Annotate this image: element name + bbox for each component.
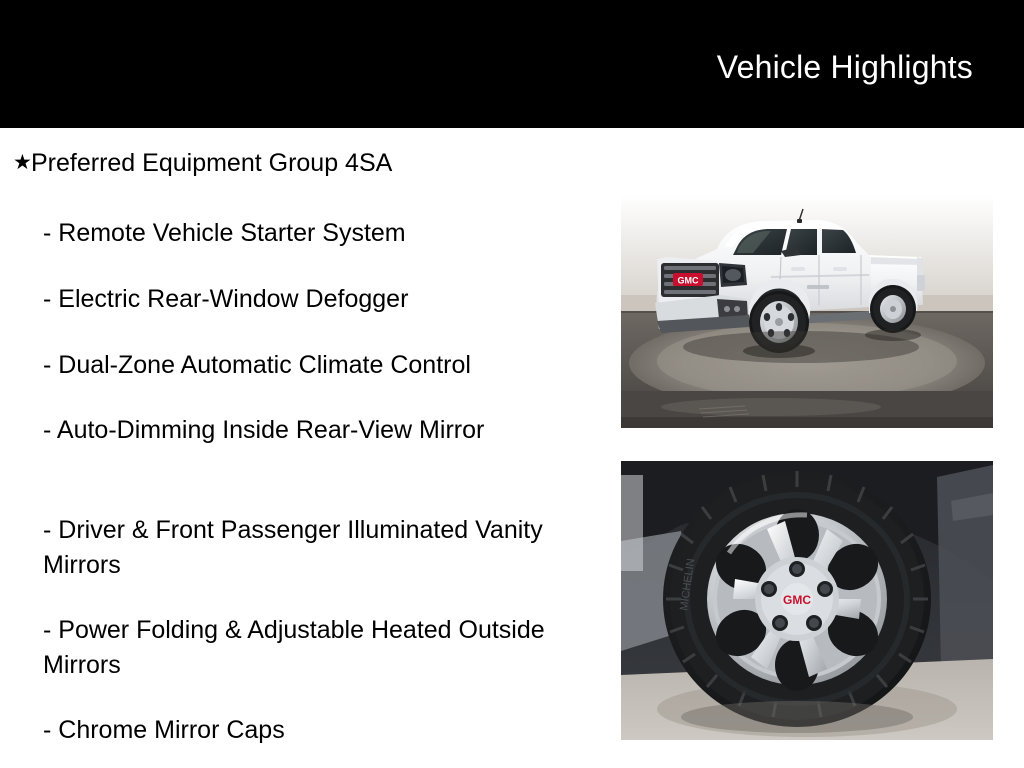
page-title: Vehicle Highlights <box>717 48 973 86</box>
vehicle-wheel-photo: MICHELIN <box>621 461 993 740</box>
list-item-group: ★ Preferred Equipment Group 4SA <box>0 148 586 178</box>
list-item-feature-1: - Remote Vehicle Starter System <box>43 216 588 251</box>
vehicle-highlights-list: ★ Preferred Equipment Group 4SA - Remote… <box>0 128 600 768</box>
list-item-feature-7: - Chrome Mirror Caps <box>43 713 588 748</box>
svg-text:GMC: GMC <box>783 593 811 607</box>
list-item-feature-5: - Driver & Front Passenger Illuminated V… <box>43 513 573 583</box>
header-band: Vehicle Highlights <box>0 0 1024 128</box>
vehicle-exterior-photo: GMC <box>621 195 993 428</box>
star-icon: ★ <box>0 148 31 178</box>
vehicle-highlights-slide: Vehicle Highlights ★ Preferred Equipment… <box>0 0 1024 768</box>
svg-text:GMC: GMC <box>678 276 699 286</box>
list-item-feature-2: - Electric Rear-Window Defogger <box>43 282 588 317</box>
list-item-feature-4: - Auto-Dimming Inside Rear-View Mirror <box>43 413 513 448</box>
media-column: GMC <box>621 128 993 768</box>
list-item-feature-6: - Power Folding & Adjustable Heated Outs… <box>43 613 553 683</box>
equipment-group-label: Preferred Equipment Group 4SA <box>31 148 392 178</box>
list-item-feature-3: - Dual-Zone Automatic Climate Control <box>43 348 588 383</box>
